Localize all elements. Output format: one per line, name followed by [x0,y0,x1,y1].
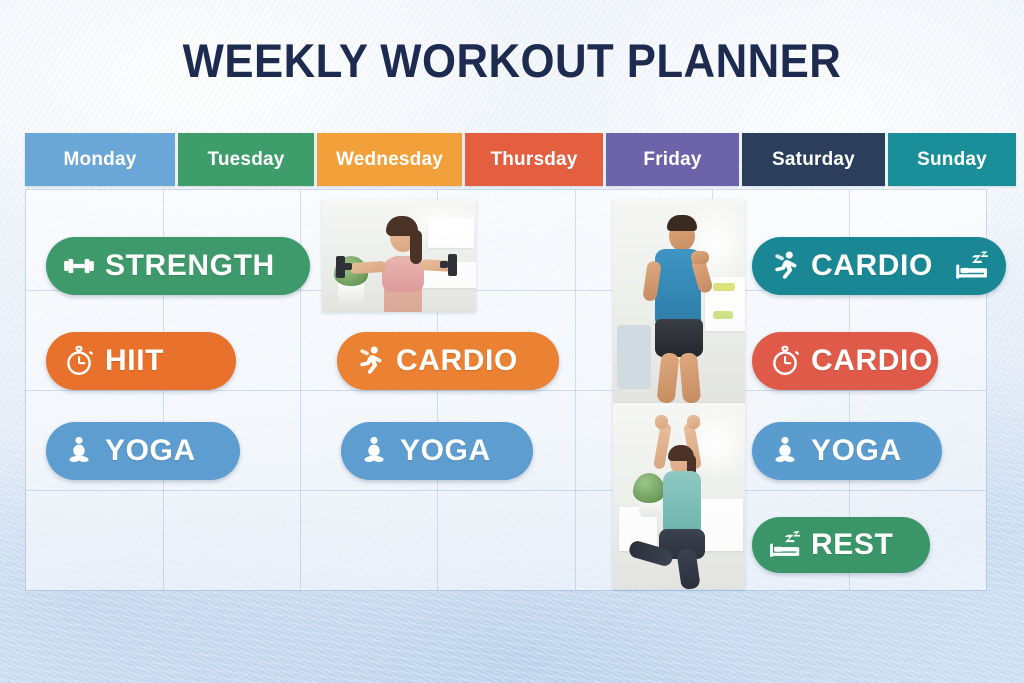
workout-pill-saturday-rest[interactable]: REST [752,517,930,573]
workout-pill-monday-hiit[interactable]: HIIT [46,332,236,390]
workout-pill-wednesday-cardio[interactable]: CARDIO [337,332,559,390]
day-header-tuesday[interactable]: Tuesday [178,133,314,186]
day-header-label: Wednesday [336,149,443,171]
workout-pill-monday-strength[interactable]: STRENGTH [46,237,310,295]
photo-furniture [617,325,651,389]
day-header-label: Tuesday [207,149,284,171]
workout-pill-monday-yoga[interactable]: YOGA [46,422,240,480]
photo-shelf-item [713,311,733,319]
photo-figure-hand [687,415,700,429]
workout-label: REST [811,530,893,560]
day-header-label: Friday [643,149,701,171]
yoga-woman-photo [613,403,745,589]
stopwatch-icon [62,344,96,378]
bed-sleep-icon [954,248,990,284]
day-header-saturday[interactable]: Saturday [742,133,885,186]
grid-row-divider [26,390,986,391]
workout-label: CARDIO [396,346,518,376]
day-header-row: MondayTuesdayWednesdayThursdayFridaySatu… [25,133,1018,186]
workout-pill-wednesday-yoga[interactable]: YOGA [341,422,533,480]
runner-icon [353,344,387,378]
photo-figure-ponytail [410,230,422,264]
workout-label: YOGA [811,436,902,466]
day-header-label: Saturday [772,149,855,171]
photo-dumbbell [448,254,457,276]
day-header-sunday[interactable]: Sunday [888,133,1016,186]
photo-figure-tanktop [663,471,701,533]
photo-dumbbell-bar [440,261,448,268]
running-man-photo [613,199,745,403]
day-header-monday[interactable]: Monday [25,133,175,186]
page-title: WEEKLY WORKOUT PLANNER [36,33,988,88]
yoga-icon [768,434,802,468]
dumbbell-icon [62,249,96,283]
stopwatch-icon [768,344,802,378]
day-header-friday[interactable]: Friday [606,133,739,186]
day-header-wednesday[interactable]: Wednesday [317,133,462,186]
workout-pill-saturday-yoga[interactable]: YOGA [752,422,942,480]
photo-plant [633,473,665,503]
photo-shelf-item [713,283,735,291]
yoga-icon [62,434,96,468]
workout-label: CARDIO [811,346,933,376]
workout-label: STRENGTH [105,251,275,281]
grid-row-divider [26,490,986,491]
photo-dumbbell-bar [344,263,352,270]
photo-figure-shorts [655,319,703,357]
workout-label: CARDIO [811,251,933,281]
workout-label: HIIT [105,346,164,376]
runner-icon [768,249,802,283]
photo-figure-hand [655,415,668,429]
dumbbell-workout-photo [322,200,476,312]
day-header-label: Thursday [490,149,577,171]
photo-shelf [428,218,474,248]
yoga-icon [357,434,391,468]
day-header-thursday[interactable]: Thursday [465,133,603,186]
photo-figure-hair [667,215,697,231]
workout-label: YOGA [400,436,491,466]
photo-figure-fist [691,251,709,264]
workout-pill-saturday-cardio[interactable]: CARDIO [752,332,938,390]
day-header-label: Monday [64,149,137,171]
workout-label: YOGA [105,436,196,466]
bed-sleep-icon [768,528,802,562]
workout-pill-saturday-cardio[interactable]: CARDIO [752,237,1006,295]
day-header-label: Sunday [917,149,987,171]
planner-canvas: WEEKLY WORKOUT PLANNER MondayTuesdayWedn… [0,0,1024,683]
